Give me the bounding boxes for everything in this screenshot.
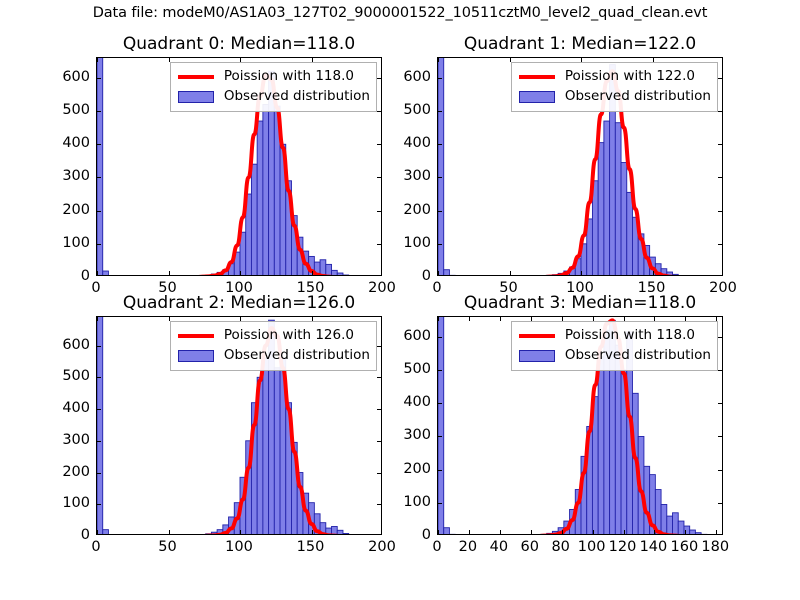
subplot-title-quadrant-3: Quadrant 3: Median=118.0 bbox=[437, 293, 723, 313]
y-tick bbox=[438, 470, 442, 471]
subplot-title-quadrant-2: Quadrant 2: Median=126.0 bbox=[96, 293, 382, 313]
y-tick-right bbox=[377, 78, 381, 79]
x-tick bbox=[438, 530, 439, 534]
y-tick-label: 100 bbox=[387, 494, 431, 510]
legend-label-observed: Observed distribution bbox=[224, 349, 370, 363]
subplot-quadrant-0: Quadrant 0: Median=118.0Poission with 11… bbox=[96, 57, 382, 276]
y-tick-label: 200 bbox=[46, 202, 90, 218]
x-tick bbox=[240, 530, 241, 534]
y-tick bbox=[438, 244, 442, 245]
x-tick-label: 100 bbox=[225, 539, 253, 555]
y-tick-label: 400 bbox=[46, 400, 90, 416]
y-tick-label: 400 bbox=[387, 135, 431, 151]
y-tick-right bbox=[377, 177, 381, 178]
axes-quadrant-1: Poission with 122.0Observed distribution bbox=[437, 57, 723, 276]
y-tick bbox=[97, 377, 101, 378]
y-tick bbox=[97, 111, 101, 112]
y-tick-label: 100 bbox=[387, 235, 431, 251]
y-tick-label: 0 bbox=[387, 268, 431, 284]
y-tick bbox=[97, 409, 101, 410]
y-tick-label: 500 bbox=[46, 102, 90, 118]
x-tick-label: 40 bbox=[490, 539, 508, 555]
y-tick bbox=[97, 144, 101, 145]
x-tick-top bbox=[500, 317, 501, 321]
legend-entry-observed: Observed distribution bbox=[517, 87, 711, 107]
y-tick-right bbox=[377, 346, 381, 347]
x-tick-label: 140 bbox=[640, 539, 668, 555]
x-tick bbox=[500, 530, 501, 534]
y-tick-label: 0 bbox=[387, 527, 431, 543]
legend-label-poisson: Poission with 118.0 bbox=[224, 70, 354, 84]
legend-label-observed: Observed distribution bbox=[565, 349, 711, 363]
x-tick-label: 160 bbox=[671, 539, 699, 555]
x-tick bbox=[654, 530, 655, 534]
y-tick-label: 500 bbox=[387, 361, 431, 377]
y-tick bbox=[97, 211, 101, 212]
matplotlib-figure: Data file: modeM0/AS1A03_127T02_90000015… bbox=[0, 0, 800, 600]
y-tick-label: 200 bbox=[387, 202, 431, 218]
legend-label-poisson: Poission with 122.0 bbox=[565, 70, 695, 84]
y-tick-label: 200 bbox=[387, 461, 431, 477]
legend-patch-swatch-icon bbox=[176, 348, 216, 364]
y-tick bbox=[97, 244, 101, 245]
x-tick-top bbox=[469, 317, 470, 321]
legend-label-poisson: Poission with 126.0 bbox=[224, 329, 354, 343]
legend-patch-swatch-icon bbox=[517, 348, 557, 364]
axes-quadrant-3: Poission with 118.0Observed distribution bbox=[437, 316, 723, 535]
y-tick-right bbox=[718, 470, 722, 471]
legend-label-observed: Observed distribution bbox=[565, 90, 711, 104]
x-tick bbox=[438, 271, 439, 275]
legend-entry-poisson: Poission with 122.0 bbox=[517, 67, 711, 87]
y-tick-label: 100 bbox=[46, 495, 90, 511]
legend-label-poisson: Poission with 118.0 bbox=[565, 329, 695, 343]
y-tick bbox=[438, 211, 442, 212]
y-tick-right bbox=[718, 503, 722, 504]
x-tick bbox=[531, 530, 532, 534]
x-tick-label: 0 bbox=[91, 539, 100, 555]
y-tick-label: 0 bbox=[46, 527, 90, 543]
y-tick-right bbox=[377, 377, 381, 378]
legend-quadrant-2[interactable]: Poission with 126.0Observed distribution bbox=[170, 321, 377, 371]
axes-quadrant-0: Poission with 118.0Observed distribution bbox=[96, 57, 382, 276]
y-tick-right bbox=[377, 211, 381, 212]
x-tick bbox=[624, 530, 625, 534]
x-tick bbox=[169, 530, 170, 534]
x-tick bbox=[240, 271, 241, 275]
x-tick bbox=[716, 530, 717, 534]
y-tick-label: 400 bbox=[387, 394, 431, 410]
legend-entry-observed: Observed distribution bbox=[517, 346, 711, 366]
y-tick-right bbox=[718, 144, 722, 145]
y-tick-label: 200 bbox=[46, 464, 90, 480]
y-tick bbox=[438, 78, 442, 79]
y-tick bbox=[438, 337, 442, 338]
x-tick bbox=[169, 271, 170, 275]
x-tick bbox=[469, 530, 470, 534]
y-tick bbox=[438, 403, 442, 404]
x-tick-label: 100 bbox=[578, 539, 606, 555]
y-tick-right bbox=[377, 441, 381, 442]
y-tick-label: 100 bbox=[46, 235, 90, 251]
y-tick-right bbox=[718, 403, 722, 404]
x-tick-label: 0 bbox=[432, 539, 441, 555]
y-tick-right bbox=[377, 144, 381, 145]
y-tick-right bbox=[718, 111, 722, 112]
x-tick-label: 60 bbox=[521, 539, 539, 555]
y-tick bbox=[97, 473, 101, 474]
legend-entry-poisson: Poission with 126.0 bbox=[176, 326, 370, 346]
y-tick-label: 0 bbox=[46, 268, 90, 284]
figure-suptitle: Data file: modeM0/AS1A03_127T02_90000015… bbox=[0, 5, 800, 21]
legend-label-observed: Observed distribution bbox=[224, 90, 370, 104]
y-tick-label: 600 bbox=[46, 69, 90, 85]
y-tick-right bbox=[718, 177, 722, 178]
x-tick bbox=[562, 530, 563, 534]
y-tick-right bbox=[377, 409, 381, 410]
y-tick-right bbox=[718, 337, 722, 338]
y-tick-label: 500 bbox=[46, 368, 90, 384]
subplot-quadrant-3: Quadrant 3: Median=118.0Poission with 11… bbox=[437, 316, 723, 535]
y-tick-label: 300 bbox=[46, 168, 90, 184]
y-tick bbox=[438, 144, 442, 145]
y-tick-label: 600 bbox=[46, 337, 90, 353]
x-tick-top bbox=[97, 317, 98, 321]
y-tick-label: 400 bbox=[46, 135, 90, 151]
x-tick bbox=[97, 271, 98, 275]
x-tick bbox=[653, 271, 654, 275]
y-tick-right bbox=[377, 504, 381, 505]
x-tick-label: 120 bbox=[609, 539, 637, 555]
x-tick-label: 80 bbox=[551, 539, 569, 555]
x-tick-label: 50 bbox=[158, 539, 176, 555]
legend-patch-swatch-icon bbox=[176, 89, 216, 105]
y-tick-right bbox=[718, 244, 722, 245]
subplot-quadrant-1: Quadrant 1: Median=122.0Poission with 12… bbox=[437, 57, 723, 276]
x-tick bbox=[312, 530, 313, 534]
y-tick-label: 500 bbox=[387, 102, 431, 118]
subplot-quadrant-2: Quadrant 2: Median=126.0Poission with 12… bbox=[96, 316, 382, 535]
y-tick bbox=[438, 370, 442, 371]
y-tick bbox=[97, 78, 101, 79]
legend-entry-poisson: Poission with 118.0 bbox=[517, 326, 711, 346]
x-tick-top bbox=[97, 58, 98, 62]
y-tick-label: 300 bbox=[387, 427, 431, 443]
x-tick bbox=[312, 271, 313, 275]
y-tick bbox=[438, 111, 442, 112]
y-tick-right bbox=[718, 78, 722, 79]
y-tick-right bbox=[377, 244, 381, 245]
subplot-title-quadrant-1: Quadrant 1: Median=122.0 bbox=[437, 34, 723, 54]
x-tick-top bbox=[438, 58, 439, 62]
x-tick bbox=[685, 530, 686, 534]
legend-line-swatch-icon bbox=[176, 328, 216, 344]
y-tick bbox=[97, 441, 101, 442]
legend-line-swatch-icon bbox=[517, 69, 557, 85]
subplot-title-quadrant-0: Quadrant 0: Median=118.0 bbox=[96, 34, 382, 54]
legend-patch-swatch-icon bbox=[517, 89, 557, 105]
y-tick bbox=[97, 177, 101, 178]
x-tick-label: 20 bbox=[459, 539, 477, 555]
x-tick bbox=[97, 530, 98, 534]
y-tick bbox=[438, 436, 442, 437]
legend-entry-poisson: Poission with 118.0 bbox=[176, 67, 370, 87]
legend-line-swatch-icon bbox=[517, 328, 557, 344]
x-tick bbox=[510, 271, 511, 275]
legend-quadrant-3[interactable]: Poission with 118.0Observed distribution bbox=[511, 321, 718, 371]
y-tick-label: 600 bbox=[387, 328, 431, 344]
y-tick-right bbox=[718, 211, 722, 212]
y-tick-label: 600 bbox=[387, 69, 431, 85]
y-tick-right bbox=[377, 473, 381, 474]
y-tick bbox=[97, 504, 101, 505]
legend-line-swatch-icon bbox=[176, 69, 216, 85]
y-tick bbox=[438, 503, 442, 504]
y-tick-label: 300 bbox=[46, 432, 90, 448]
x-tick bbox=[581, 271, 582, 275]
legend-quadrant-1[interactable]: Poission with 122.0Observed distribution bbox=[511, 62, 718, 112]
x-tick-label: 150 bbox=[297, 539, 325, 555]
legend-entry-observed: Observed distribution bbox=[176, 346, 370, 366]
y-tick-right bbox=[718, 436, 722, 437]
axes-quadrant-2: Poission with 126.0Observed distribution bbox=[96, 316, 382, 535]
x-tick-label: 180 bbox=[701, 539, 729, 555]
y-tick bbox=[438, 177, 442, 178]
y-tick-right bbox=[377, 111, 381, 112]
x-tick-top bbox=[438, 317, 439, 321]
x-tick bbox=[593, 530, 594, 534]
legend-quadrant-0[interactable]: Poission with 118.0Observed distribution bbox=[170, 62, 377, 112]
y-tick bbox=[97, 346, 101, 347]
y-tick-label: 300 bbox=[387, 168, 431, 184]
y-tick-right bbox=[718, 370, 722, 371]
legend-entry-observed: Observed distribution bbox=[176, 87, 370, 107]
